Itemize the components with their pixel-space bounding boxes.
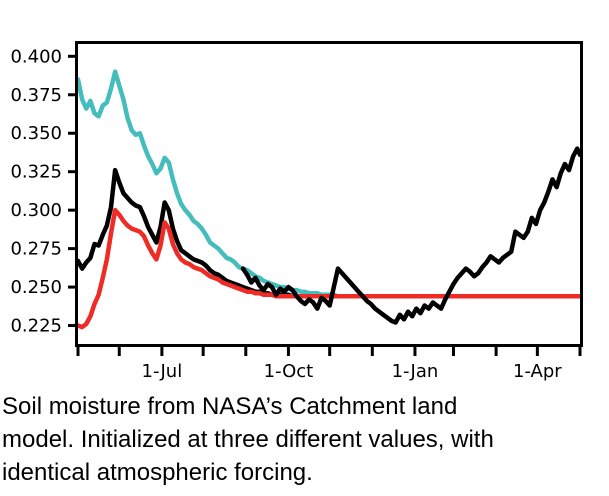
- y-tick-label: 0.300: [10, 200, 62, 221]
- chart-plot-area: 0.4000.3750.3500.3250.3000.2750.2500.225…: [0, 0, 609, 388]
- y-tick-label: 0.250: [10, 277, 62, 298]
- figure-caption: Soil moisture from NASA’s Catchment land…: [2, 390, 602, 489]
- y-tick-label: 0.225: [10, 316, 62, 337]
- caption-line-1: Soil moisture from NASA’s Catchment land: [2, 390, 602, 423]
- y-tick-label: 0.325: [10, 162, 62, 183]
- x-tick-label: 1-Apr: [513, 361, 562, 382]
- y-tick-label: 0.375: [10, 85, 62, 106]
- y-tick-label: 0.400: [10, 46, 62, 67]
- x-tick-label: 1-Jan: [392, 361, 439, 382]
- chart-background: [0, 0, 609, 388]
- chart-figure: Rootzone soil moisture [m3/m3] 0.4000.37…: [0, 0, 609, 388]
- x-tick-label: 1-Oct: [264, 361, 314, 382]
- caption-line-3: identical atmospheric forcing.: [2, 456, 602, 489]
- x-tick-label: 1-Jul: [142, 361, 183, 382]
- caption-line-2: model. Initialized at three different va…: [2, 423, 602, 456]
- y-tick-label: 0.350: [10, 123, 62, 144]
- y-tick-label: 0.275: [10, 239, 62, 260]
